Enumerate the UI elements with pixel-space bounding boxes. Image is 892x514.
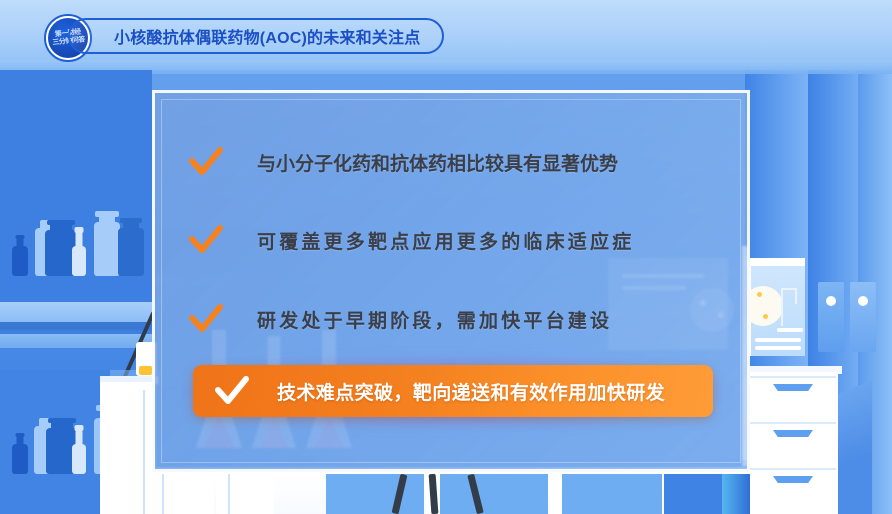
- drawer[interactable]: [750, 376, 836, 422]
- drawer-handle[interactable]: [773, 430, 813, 437]
- drawer[interactable]: [750, 422, 836, 468]
- bench-block: [216, 474, 274, 514]
- slide-canvas: 第一财经 三分钟问答 小核酸抗体偶联药物(AOC)的未来和关注点 与小分子化药和…: [0, 0, 892, 514]
- bullet-item: 可覆盖更多靶点应用更多的临床适应症: [189, 217, 717, 263]
- bench-block: [664, 474, 722, 514]
- bench-block: [440, 474, 548, 514]
- poster-bar: [777, 328, 803, 332]
- poster-axis: [795, 288, 797, 304]
- content-panel: 与小分子化药和抗体药相比较具有显著优势 可覆盖更多靶点应用更多的临床适应症 研发…: [152, 90, 750, 472]
- highlight-bar[interactable]: 技术难点突破，靶向递送和有效作用加快研发: [193, 365, 713, 417]
- poster-axis: [781, 288, 783, 326]
- binder: [850, 282, 876, 352]
- poster-frame: [743, 258, 805, 356]
- binder: [818, 282, 844, 352]
- bottle-silhouette: [72, 226, 86, 276]
- bottle-silhouette: [72, 424, 86, 474]
- check-icon: [189, 147, 223, 177]
- bottle-silhouette: [12, 434, 28, 474]
- bottle-silhouette: [118, 218, 144, 276]
- bench-line: [228, 474, 230, 514]
- cabinet-side-right: [838, 380, 872, 514]
- bottle-silhouette: [12, 236, 28, 276]
- bench-line: [162, 474, 164, 514]
- bullet-item: 与小分子化药和抗体药相比较具有显著优势: [189, 139, 717, 185]
- lamp-bulb: [139, 366, 152, 375]
- drawer[interactable]: [750, 468, 836, 514]
- bottle-silhouette: [94, 210, 120, 276]
- check-icon: [215, 376, 249, 406]
- cabinet-left: [100, 382, 155, 514]
- check-icon: [189, 304, 223, 334]
- bench-block: [722, 474, 750, 514]
- poster-dot: [757, 292, 762, 297]
- cabinet-edge-left: [143, 390, 145, 514]
- poster-bar: [755, 338, 801, 342]
- bullet-text: 可覆盖更多靶点应用更多的临床适应症: [257, 227, 634, 254]
- bullet-item: 研发处于早期阶段，需加快平台建设: [189, 296, 717, 342]
- poster-dot: [763, 314, 768, 319]
- drawer-handle[interactable]: [773, 384, 813, 391]
- bullet-text: 研发处于早期阶段，需加快平台建设: [257, 306, 612, 333]
- check-icon: [189, 225, 223, 255]
- bullet-text: 与小分子化药和抗体药相比较具有显著优势: [257, 149, 618, 176]
- bench-block: [550, 474, 560, 514]
- bench-block: [326, 474, 424, 514]
- shelf-plank: [0, 302, 152, 322]
- poster-image: [751, 266, 805, 356]
- drawer-handle[interactable]: [773, 476, 813, 483]
- title-pill: 小核酸抗体偶联药物(AOC)的未来和关注点: [68, 18, 444, 54]
- poster-bar: [755, 346, 801, 350]
- bench-block: [562, 474, 662, 514]
- bullet-text: 技术难点突破，靶向递送和有效作用加快研发: [277, 378, 665, 405]
- page-title: 小核酸抗体偶联药物(AOC)的未来和关注点: [114, 24, 420, 48]
- bullet-list: 与小分子化药和抗体药相比较具有显著优势 可覆盖更多靶点应用更多的临床适应症 研发…: [155, 93, 747, 469]
- bullet-item-highlighted[interactable]: 技术难点突破，靶向递送和有效作用加快研发: [193, 365, 713, 417]
